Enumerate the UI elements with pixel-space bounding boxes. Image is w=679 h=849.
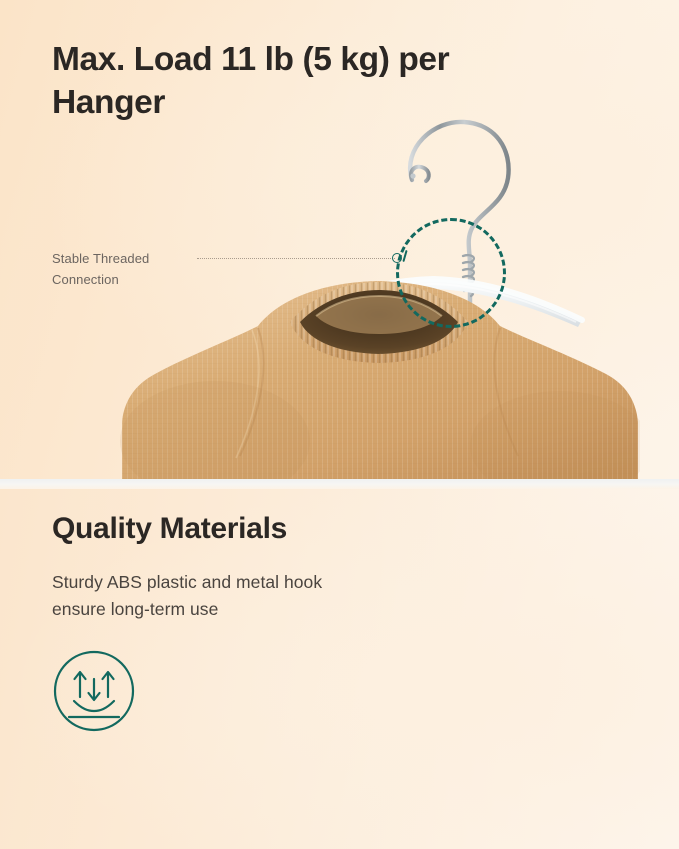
flex-resistance-icon [52, 649, 136, 733]
callout-label: Stable Threaded Connection [52, 248, 222, 290]
page-title: Max. Load 11 lb (5 kg) per Hanger [52, 38, 522, 124]
callout-leader-line [197, 258, 395, 261]
panel-quality-materials: Quality Materials Sturdy ABS plastic and… [0, 489, 679, 849]
sweater-image [120, 276, 640, 479]
section-subtitle: Sturdy ABS plastic and metal hook ensure… [52, 569, 422, 623]
product-feature-image: Stable Threaded Connection Max. Load 11 … [0, 0, 679, 849]
panel-divider [0, 479, 679, 489]
highlight-dashed-circle [396, 218, 506, 328]
section-heading: Quality Materials [52, 512, 287, 546]
panel-max-load: Stable Threaded Connection Max. Load 11 … [0, 0, 679, 479]
